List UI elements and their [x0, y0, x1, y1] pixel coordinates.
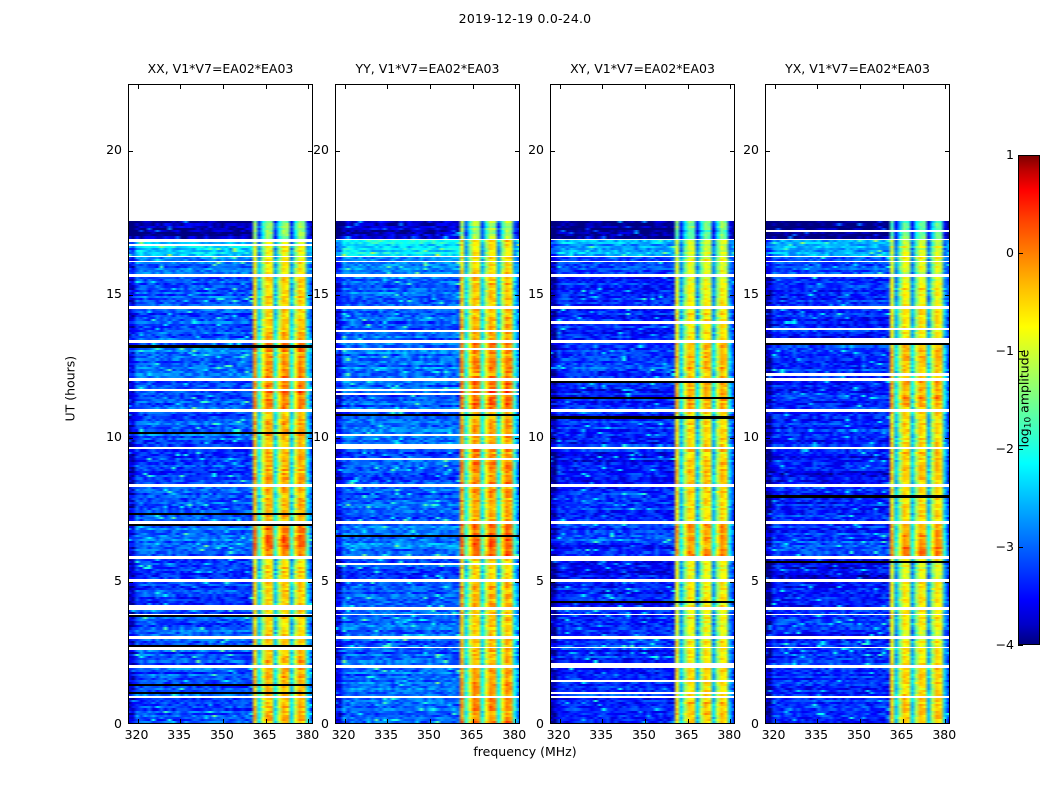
y-tick-label: 5 — [82, 573, 122, 588]
colorbar-tick-label: −2 — [974, 441, 1014, 456]
y-tick — [551, 582, 555, 583]
y-tick-label: 5 — [289, 573, 329, 588]
colorbar-tick-label: −4 — [974, 637, 1014, 652]
x-tick — [180, 85, 181, 89]
x-tick — [602, 719, 603, 723]
y-tick-label: 10 — [719, 429, 759, 444]
y-tick-label: 0 — [82, 716, 122, 731]
x-axis-label: frequency (MHz) — [0, 744, 1050, 759]
x-tick-label: 365 — [243, 727, 287, 742]
y-tick — [766, 438, 770, 439]
y-tick-label: 10 — [504, 429, 544, 444]
colorbar-label-subscript: 10 — [1024, 417, 1034, 428]
scan-gap — [551, 84, 734, 221]
y-tick — [551, 438, 555, 439]
x-tick — [945, 85, 946, 89]
y-tick-label: 15 — [289, 286, 329, 301]
x-tick-label: 335 — [794, 727, 838, 742]
panel-title-xx: XX, V1*V7=EA02*EA03 — [128, 61, 313, 76]
y-tick — [945, 438, 949, 439]
colorbar-tick — [1018, 253, 1023, 254]
y-tick-label: 5 — [719, 573, 759, 588]
spectrogram-yy — [336, 85, 519, 723]
y-tick-label: 5 — [504, 573, 544, 588]
x-tick-label: 350 — [837, 727, 881, 742]
x-tick-label: 350 — [407, 727, 451, 742]
x-tick — [903, 719, 904, 723]
x-tick — [308, 85, 309, 89]
x-tick — [515, 85, 516, 89]
x-tick — [645, 719, 646, 723]
y-tick — [129, 438, 133, 439]
colorbar-tick-label: −1 — [974, 343, 1014, 358]
y-tick-label: 10 — [289, 429, 329, 444]
plot-area-yx[interactable] — [765, 84, 950, 724]
y-tick-label: 15 — [82, 286, 122, 301]
x-tick — [138, 719, 139, 723]
x-tick — [387, 719, 388, 723]
y-tick — [551, 151, 555, 152]
x-tick — [387, 85, 388, 89]
x-tick-label: 350 — [622, 727, 666, 742]
y-tick-label: 10 — [82, 429, 122, 444]
colorbar-tick — [1018, 547, 1023, 548]
colorbar-label: log10 amplitude — [1017, 329, 1034, 469]
colorbar-label-suffix: amplitude — [1017, 350, 1032, 417]
spectrogram-scanline — [766, 721, 949, 723]
x-tick — [266, 719, 267, 723]
panel-title-xy: XY, V1*V7=EA02*EA03 — [550, 61, 735, 76]
colorbar-tick-label: −3 — [974, 539, 1014, 554]
y-tick — [129, 295, 133, 296]
colorbar-tick-label: 0 — [974, 245, 1014, 260]
spectrogram-xy — [551, 85, 734, 723]
x-tick — [138, 85, 139, 89]
plot-area-xy[interactable] — [550, 84, 735, 724]
y-tick-label: 20 — [289, 142, 329, 157]
x-tick — [473, 85, 474, 89]
x-tick — [345, 85, 346, 89]
spectrogram-scanline — [551, 721, 734, 723]
y-tick — [945, 151, 949, 152]
y-tick-label: 0 — [719, 716, 759, 731]
x-tick — [430, 719, 431, 723]
x-tick-label: 335 — [364, 727, 408, 742]
x-tick — [817, 719, 818, 723]
panel-title-yy: YY, V1*V7=EA02*EA03 — [335, 61, 520, 76]
scan-gap — [766, 84, 949, 221]
panel-yx[interactable]: YX, V1*V7=EA02*EA03 — [765, 84, 950, 724]
plot-area-xx[interactable] — [128, 84, 313, 724]
spectrogram-scanline — [129, 721, 312, 723]
y-tick-label: 15 — [719, 286, 759, 301]
x-tick — [817, 85, 818, 89]
x-tick — [345, 719, 346, 723]
y-tick — [336, 151, 340, 152]
spectrogram-xx — [129, 85, 312, 723]
x-tick-label: 350 — [200, 727, 244, 742]
x-tick-label: 380 — [922, 727, 966, 742]
spectrogram-yx — [766, 85, 949, 723]
y-tick — [336, 582, 340, 583]
y-tick — [129, 151, 133, 152]
x-tick — [560, 85, 561, 89]
y-tick-label: 20 — [82, 142, 122, 157]
x-tick-label: 365 — [450, 727, 494, 742]
x-tick — [775, 719, 776, 723]
y-tick-label: 0 — [504, 716, 544, 731]
x-tick — [266, 85, 267, 89]
x-tick — [602, 85, 603, 89]
colorbar-tick-label: 1 — [974, 147, 1014, 162]
y-tick — [945, 295, 949, 296]
figure-canvas: 2019-12-19 0.0-24.0 XX, V1*V7=EA02*EA03Y… — [0, 0, 1050, 800]
x-tick — [473, 719, 474, 723]
y-tick — [129, 582, 133, 583]
x-tick — [180, 719, 181, 723]
colorbar-tick — [1018, 645, 1023, 646]
scan-gap — [129, 84, 312, 221]
x-tick — [903, 85, 904, 89]
y-tick-label: 0 — [289, 716, 329, 731]
panel-yy[interactable]: YY, V1*V7=EA02*EA03 — [335, 84, 520, 724]
y-tick-label: 20 — [719, 142, 759, 157]
x-tick — [560, 719, 561, 723]
scan-gap — [336, 84, 519, 221]
x-tick — [730, 85, 731, 89]
y-tick — [945, 582, 949, 583]
plot-area-yy[interactable] — [335, 84, 520, 724]
x-tick-label: 335 — [157, 727, 201, 742]
y-tick-label: 15 — [504, 286, 544, 301]
y-tick — [336, 438, 340, 439]
x-tick-label: 365 — [665, 727, 709, 742]
spectrogram-scanline — [336, 721, 519, 723]
x-tick-label: 365 — [880, 727, 924, 742]
y-tick — [766, 151, 770, 152]
panel-title-yx: YX, V1*V7=EA02*EA03 — [765, 61, 950, 76]
x-tick — [645, 85, 646, 89]
y-tick — [336, 295, 340, 296]
x-tick — [945, 719, 946, 723]
y-tick — [766, 582, 770, 583]
x-tick — [860, 85, 861, 89]
y-tick — [766, 295, 770, 296]
y-tick — [551, 295, 555, 296]
colorbar-label-prefix: log — [1017, 428, 1032, 447]
x-tick — [223, 85, 224, 89]
y-tick-label: 20 — [504, 142, 544, 157]
x-tick — [860, 719, 861, 723]
x-tick — [688, 85, 689, 89]
panel-xx[interactable]: XX, V1*V7=EA02*EA03 — [128, 84, 313, 724]
x-tick — [775, 85, 776, 89]
figure-suptitle: 2019-12-19 0.0-24.0 — [0, 11, 1050, 26]
x-tick — [223, 719, 224, 723]
y-axis-label: UT (hours) — [63, 382, 78, 422]
panel-xy[interactable]: XY, V1*V7=EA02*EA03 — [550, 84, 735, 724]
x-tick-label: 335 — [579, 727, 623, 742]
x-tick — [688, 719, 689, 723]
x-tick — [430, 85, 431, 89]
colorbar-tick — [1018, 155, 1023, 156]
